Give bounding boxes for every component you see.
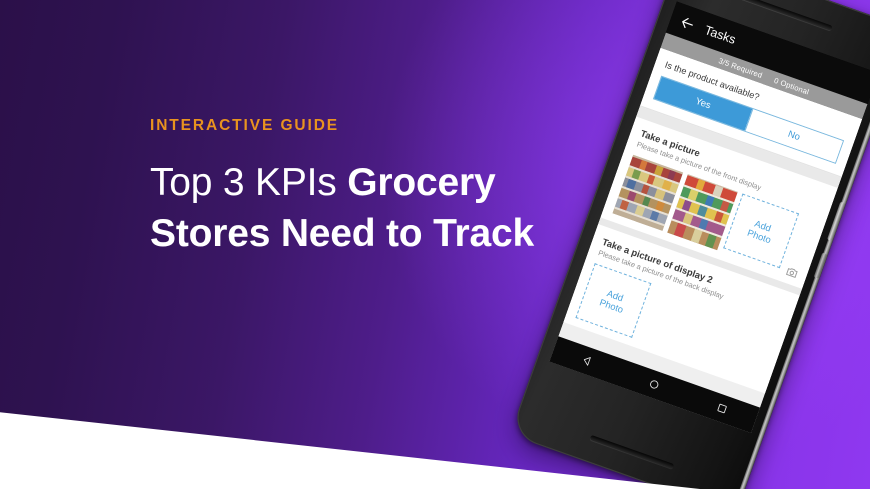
android-back-icon[interactable] bbox=[580, 354, 594, 368]
bottom-speaker-grille bbox=[590, 435, 675, 469]
app-bar-title: Tasks bbox=[703, 23, 738, 47]
phone-screen: Tasks 3/5 Required 0 Optional Is the pro… bbox=[549, 2, 870, 434]
slide-canvas: INTERACTIVE GUIDE Top 3 KPIs Grocery Sto… bbox=[0, 0, 870, 489]
back-arrow-icon[interactable] bbox=[677, 13, 697, 33]
earpiece-speaker bbox=[740, 0, 832, 31]
headline-bold-part: Grocery bbox=[347, 161, 495, 204]
headline-line-2: Stores Need to Track bbox=[150, 208, 610, 260]
android-recents-icon[interactable] bbox=[715, 401, 729, 415]
headline-line-1: Top 3 KPIs Grocery bbox=[150, 157, 610, 209]
copy-block: INTERACTIVE GUIDE Top 3 KPIs Grocery Sto… bbox=[150, 118, 610, 260]
add-photo-button[interactable]: Add Photo bbox=[723, 193, 799, 268]
android-home-icon[interactable] bbox=[648, 378, 662, 392]
add-photo-button[interactable]: Add Photo bbox=[575, 263, 651, 338]
task-list[interactable]: Is the product available? Yes No bbox=[549, 48, 862, 433]
headline-light-part: Top 3 KPIs bbox=[150, 161, 347, 204]
eyebrow-label: INTERACTIVE GUIDE bbox=[150, 118, 610, 134]
page-title: Top 3 KPIs Grocery Stores Need to Track bbox=[150, 157, 610, 261]
